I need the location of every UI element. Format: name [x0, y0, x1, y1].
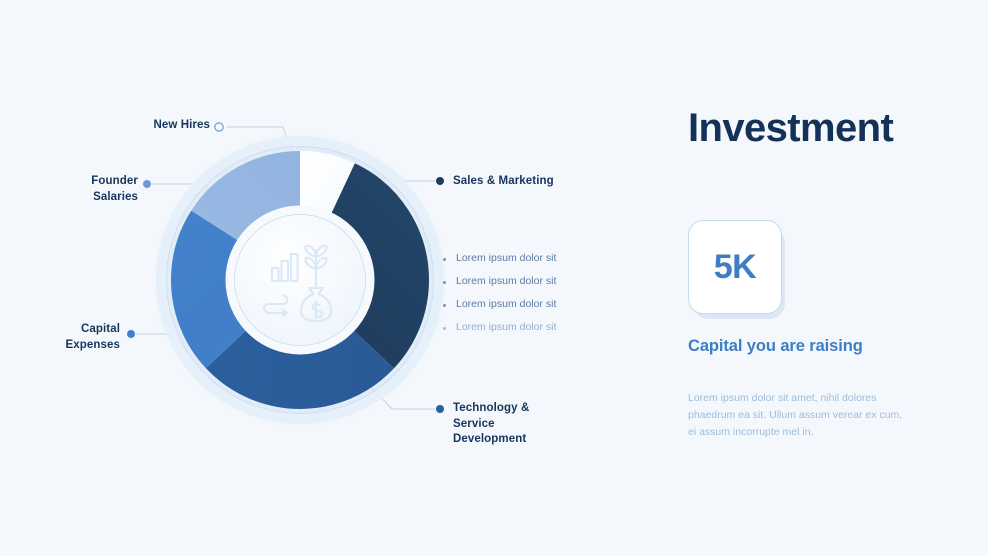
- list-item-label: Lorem ipsum dolor sit: [456, 252, 556, 265]
- bullet-dot-icon: [443, 327, 446, 330]
- label-founder-salaries-line1: Founder: [20, 174, 138, 190]
- kpi-card[interactable]: 5K: [688, 220, 782, 314]
- list-item-label: Lorem ipsum dolor sit: [456, 298, 556, 311]
- label-capital-expenses-line1: Capital: [10, 322, 120, 338]
- label-founder-salaries-line2: Salaries: [20, 190, 138, 206]
- list-item[interactable]: Lorem ipsum dolor sit: [443, 321, 608, 334]
- list-item[interactable]: Lorem ipsum dolor sit: [443, 275, 608, 288]
- label-technology-service[interactable]: Technology & Service Development: [453, 401, 603, 448]
- label-capital-expenses-line2: Expenses: [10, 338, 120, 354]
- label-technology-line3: Development: [453, 432, 603, 448]
- label-sales-marketing[interactable]: Sales & Marketing: [453, 174, 613, 190]
- bullet-dot-icon: [443, 258, 446, 261]
- label-technology-line2: Service: [453, 417, 603, 433]
- label-founder-salaries[interactable]: Founder Salaries: [20, 174, 138, 205]
- body-paragraph: Lorem ipsum dolor sit amet, nihil dolore…: [688, 390, 903, 441]
- label-technology-line1: Technology &: [453, 401, 603, 417]
- list-item[interactable]: Lorem ipsum dolor sit: [443, 252, 608, 265]
- kpi-value: 5K: [714, 248, 756, 287]
- slide-canvas: New Hires Founder Salaries Capital Expen…: [0, 0, 988, 556]
- list-item-label: Lorem ipsum dolor sit: [456, 321, 556, 334]
- label-new-hires[interactable]: New Hires: [80, 118, 210, 134]
- donut-chart: [150, 125, 450, 435]
- marker-capital-expenses: [127, 330, 135, 338]
- donut-center-hub: [235, 215, 365, 345]
- kpi-caption: Capital you are raising: [688, 337, 863, 356]
- label-capital-expenses[interactable]: Capital Expenses: [10, 322, 120, 353]
- bullet-dot-icon: [443, 281, 446, 284]
- list-item[interactable]: Lorem ipsum dolor sit: [443, 298, 608, 311]
- right-column: Investment 5K Capital you are raising Lo…: [688, 0, 988, 556]
- label-new-hires-text: New Hires: [153, 119, 210, 131]
- label-sales-marketing-text: Sales & Marketing: [453, 175, 554, 187]
- donut-chart-area: New Hires Founder Salaries Capital Expen…: [0, 0, 620, 556]
- detail-bullet-list: Lorem ipsum dolor sitLorem ipsum dolor s…: [443, 252, 608, 344]
- list-item-label: Lorem ipsum dolor sit: [456, 275, 556, 288]
- page-title: Investment: [688, 108, 893, 148]
- bullet-dot-icon: [443, 304, 446, 307]
